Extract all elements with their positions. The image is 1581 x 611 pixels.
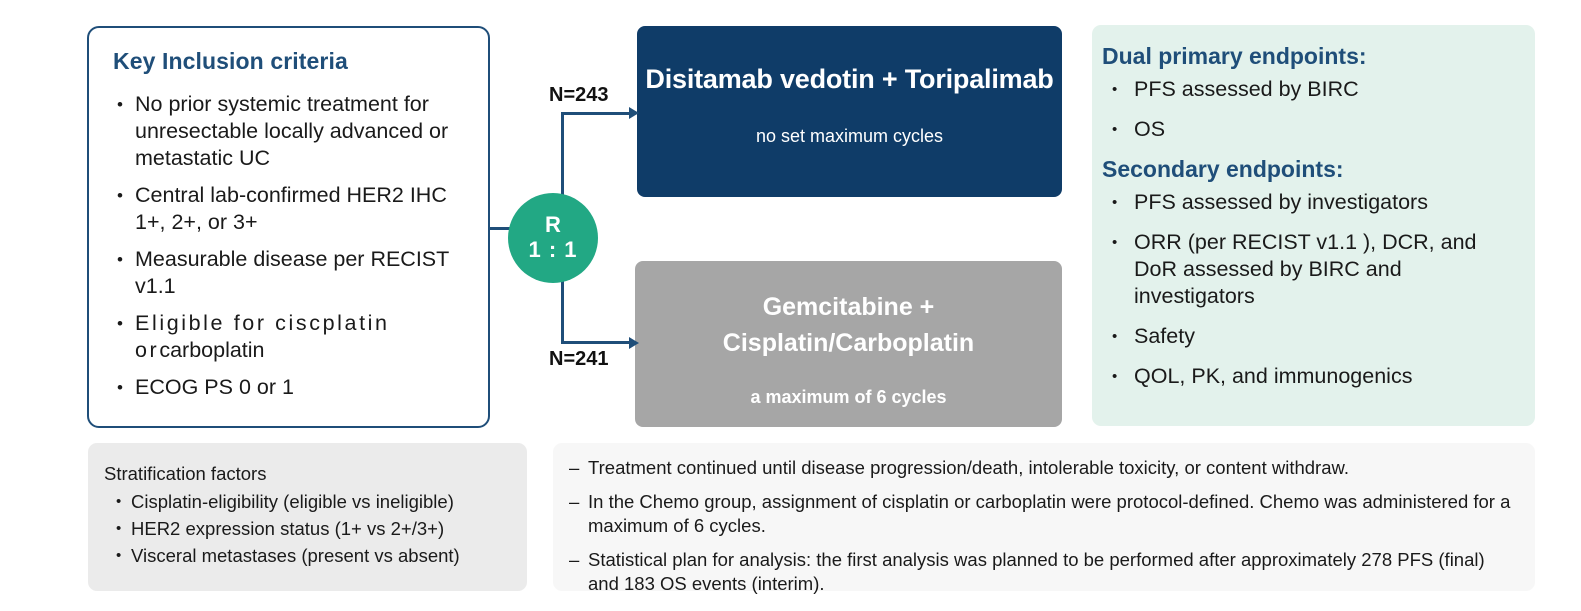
- list-item: Treatment continued until disease progre…: [569, 456, 1517, 480]
- list-item: PFS assessed by BIRC: [1100, 76, 1517, 103]
- arrowhead-experimental-icon: [629, 107, 639, 119]
- list-item: Central lab-confirmed HER2 IHC 1+, 2+, o…: [113, 182, 466, 236]
- list-item: Visceral metastases (present vs absent): [104, 542, 513, 569]
- list-item: Statistical plan for analysis: the first…: [569, 548, 1517, 596]
- list-item: ECOG PS 0 or 1: [113, 374, 466, 401]
- list-item: PFS assessed by investigators: [1100, 189, 1517, 216]
- secondary-endpoints-heading: Secondary endpoints:: [1102, 156, 1517, 183]
- footnotes-panel: Treatment continued until disease progre…: [553, 443, 1535, 591]
- control-arm-subtitle: a maximum of 6 cycles: [750, 387, 946, 408]
- experimental-arm-subtitle: no set maximum cycles: [756, 126, 943, 147]
- experimental-arm-title: Disitamab vedotin + Toripalimab: [645, 64, 1053, 95]
- list-item: Cisplatin-eligibility (eligible vs ineli…: [104, 488, 513, 515]
- control-arm-title: Gemcitabine + Cisplatin/Carboplatin: [723, 289, 974, 361]
- list-item: In the Chemo group, assignment of cispla…: [569, 490, 1517, 538]
- stratification-list: Cisplatin-eligibility (eligible vs ineli…: [104, 488, 513, 569]
- list-item: Eligible for ciscplatin orcarboplatin: [113, 310, 466, 364]
- randomization-label: R: [545, 213, 561, 237]
- stratification-factors-panel: Stratification factors Cisplatin-eligibi…: [88, 443, 527, 591]
- n-control-label: N=241: [549, 348, 609, 371]
- stratification-title: Stratification factors: [104, 463, 513, 485]
- control-arm-box: Gemcitabine + Cisplatin/Carboplatin a ma…: [635, 261, 1062, 427]
- list-item: QOL, PK, and immunogenics: [1100, 363, 1517, 390]
- list-item: Safety: [1100, 323, 1517, 350]
- connector-horizontal-down: [561, 341, 635, 344]
- inclusion-title: Key Inclusion criteria: [113, 48, 466, 75]
- primary-endpoints-list: PFS assessed by BIRC OS: [1100, 76, 1517, 143]
- inclusion-criteria-list: No prior systemic treatment for unresect…: [113, 91, 466, 401]
- endpoints-panel: Dual primary endpoints: PFS assessed by …: [1092, 25, 1535, 426]
- key-inclusion-criteria-box: Key Inclusion criteria No prior systemic…: [87, 26, 490, 428]
- primary-endpoints-heading: Dual primary endpoints:: [1102, 43, 1517, 70]
- list-item: No prior systemic treatment for unresect…: [113, 91, 466, 172]
- n-experimental-label: N=243: [549, 84, 609, 107]
- control-arm-title-line2: Cisplatin/Carboplatin: [723, 325, 974, 361]
- randomization-ratio: 1 : 1: [528, 237, 577, 263]
- list-item: Measurable disease per RECIST v1.1: [113, 246, 466, 300]
- control-arm-title-line1: Gemcitabine +: [723, 289, 974, 325]
- list-item: ORR (per RECIST v1.1 ), DCR, and DoR ass…: [1100, 229, 1517, 310]
- study-design-diagram: Key Inclusion criteria No prior systemic…: [0, 0, 1581, 611]
- connector-vertical-up: [561, 112, 564, 204]
- secondary-endpoints-list: PFS assessed by investigators ORR (per R…: [1100, 189, 1517, 390]
- experimental-arm-box: Disitamab vedotin + Toripalimab no set m…: [637, 26, 1062, 197]
- list-item-line2: carboplatin: [159, 338, 264, 362]
- arrowhead-control-icon: [629, 337, 639, 349]
- randomization-circle: R 1 : 1: [508, 193, 598, 283]
- footnotes-list: Treatment continued until disease progre…: [569, 456, 1517, 596]
- list-item: HER2 expression status (1+ vs 2+/3+): [104, 515, 513, 542]
- connector-horizontal-up: [561, 112, 635, 115]
- connector-vertical-down: [561, 272, 564, 344]
- list-item: OS: [1100, 116, 1517, 143]
